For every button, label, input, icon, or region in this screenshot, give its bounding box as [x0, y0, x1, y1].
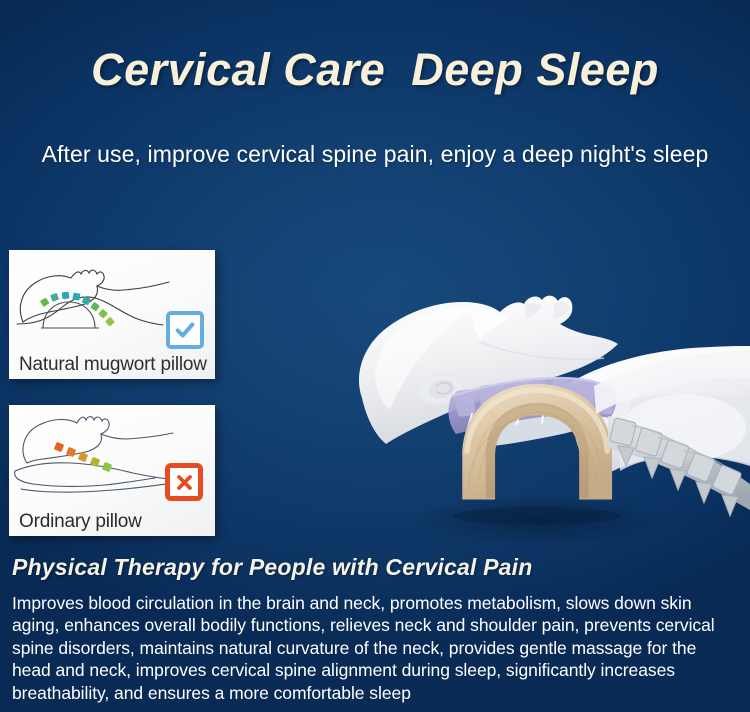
comparison-card-natural: Natural mugwort pillow — [9, 250, 215, 379]
page-subtitle: After use, improve cervical spine pain, … — [0, 141, 750, 168]
card-label-natural: Natural mugwort pillow — [19, 354, 207, 376]
benefits-heading: Physical Therapy for People with Cervica… — [12, 554, 533, 581]
check-icon — [166, 311, 204, 349]
promo-banner: Cervical Care Deep Sleep After use, impr… — [0, 0, 750, 712]
product-photo-mannequin-with-pillow — [332, 268, 750, 552]
page-title: Cervical Care Deep Sleep — [0, 44, 750, 96]
cross-icon — [165, 463, 203, 501]
card-label-ordinary: Ordinary pillow — [19, 511, 142, 533]
benefits-text: Improves blood circulation in the brain … — [12, 592, 738, 704]
comparison-card-ordinary: Ordinary pillow — [9, 405, 215, 536]
spine-segments-strained — [54, 442, 112, 472]
